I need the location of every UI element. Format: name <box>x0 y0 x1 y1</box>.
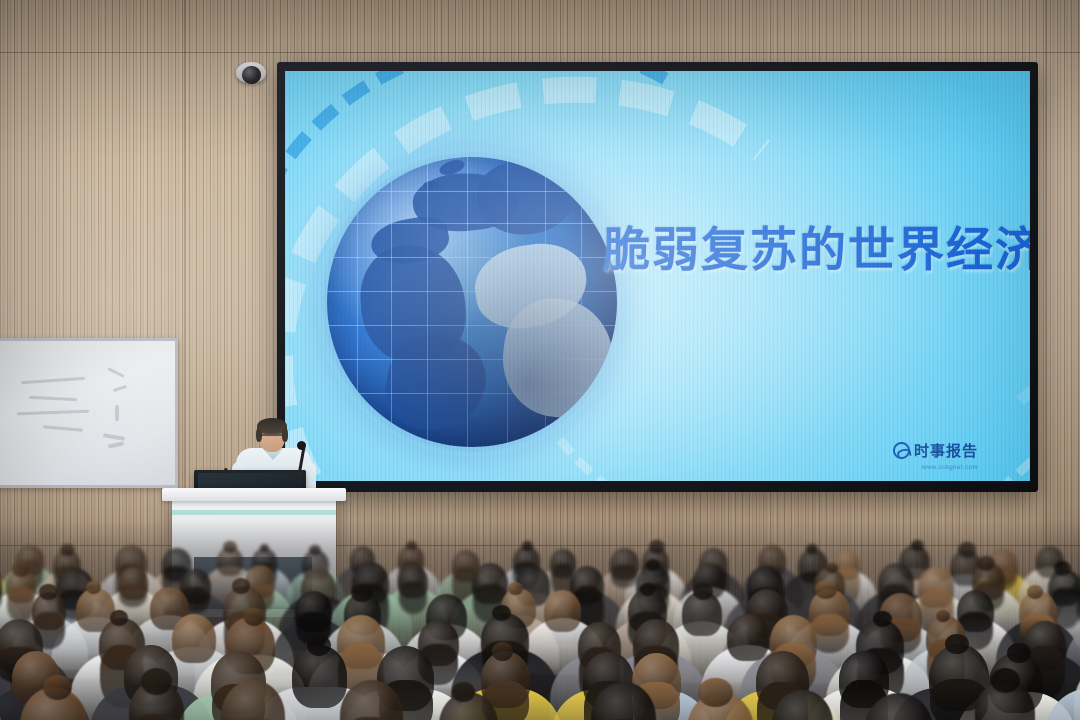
audience-member-bun <box>815 580 837 598</box>
slide-logo-text: 时事报告 <box>914 440 978 461</box>
audience-member-bun <box>232 578 250 594</box>
audience-member-bun <box>1054 561 1071 576</box>
audience-member-hair <box>7 587 36 623</box>
globe-halo <box>322 152 622 452</box>
audience-member-bun <box>991 668 1020 693</box>
audience-member-bun <box>508 582 523 595</box>
podium-trim <box>172 510 336 515</box>
audience-member-bun <box>452 682 474 701</box>
audience-member-bun <box>141 668 172 695</box>
whiteboard-marks <box>0 341 175 485</box>
whiteboard <box>0 338 178 488</box>
audience-member-bun <box>1007 643 1031 663</box>
globe-graphic <box>327 157 617 447</box>
audience-member-hair <box>611 565 638 588</box>
audience-member-bun <box>698 678 733 708</box>
speaker-glasses <box>261 434 283 439</box>
audience-member-hair <box>119 584 147 607</box>
audience-member-bun <box>911 540 924 552</box>
audience-member-bun <box>60 544 74 556</box>
audience-member-bun <box>1027 585 1043 599</box>
audience-member-head <box>172 614 216 663</box>
audience-member-bun <box>522 541 533 551</box>
presentation-screen[interactable]: 脆弱复苏的世界经济 时事报告 www.ssbgnet.com <box>277 62 1038 492</box>
audience-member-bun <box>649 540 665 553</box>
audience-member-head <box>544 590 581 632</box>
audience-member-bun <box>693 583 713 600</box>
dome-camera-icon <box>242 66 261 84</box>
lecture-hall-photo: 脆弱复苏的世界经济 时事报告 www.ssbgnet.com <box>0 0 1080 720</box>
slide-canvas: 脆弱复苏的世界经济 时事报告 www.ssbgnet.com <box>285 71 1030 481</box>
audience-member-bun <box>640 583 655 596</box>
audience-member-hair <box>399 582 428 614</box>
slide-title: 脆弱复苏的世界经济 <box>603 211 1030 280</box>
slide-logo-url: www.ssbgnet.com <box>922 465 978 471</box>
audience-member-bun <box>110 610 128 625</box>
audience-member-bun <box>351 584 373 603</box>
podium-top <box>162 488 346 501</box>
audience-member-bun <box>492 642 514 661</box>
audience-member-bun <box>39 584 57 600</box>
audience-member-bun <box>307 635 331 656</box>
globe-swoosh-icon <box>893 442 910 459</box>
microphone-icon <box>297 441 306 450</box>
slide-logo: 时事报告 <box>893 440 978 461</box>
audience-member-head <box>727 614 769 661</box>
audience-member-bun <box>977 556 995 571</box>
audience-member-bun <box>646 559 660 571</box>
audience-member-bun <box>958 542 977 558</box>
